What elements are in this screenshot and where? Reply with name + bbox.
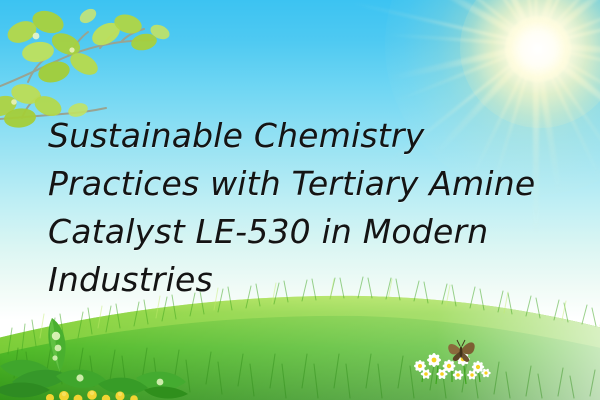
sun-ray [396, 44, 536, 102]
page-title: Sustainable Chemistry Practices with Ter… [48, 112, 554, 304]
sun-ray [536, 1, 600, 46]
daisy-cluster-with-butterfly [400, 326, 520, 386]
sun-ray [533, 0, 582, 46]
sun-ray [536, 42, 600, 58]
sun-ray [534, 0, 600, 47]
sun-ray [535, 0, 600, 46]
banner-title-block: Sustainable Chemistry Practices with Ter… [48, 112, 554, 304]
sun-ray [535, 0, 538, 45]
sun-ray [536, 44, 600, 80]
sun-ray [535, 0, 600, 46]
sun-ray [451, 0, 539, 46]
sun-ray [450, 0, 538, 46]
sun-ray [389, 42, 537, 81]
sun-ray [418, 0, 537, 46]
sun-ray [511, 0, 537, 45]
sun-icon [505, 16, 571, 82]
foreground-foliage [0, 306, 194, 400]
banner-image: Sustainable Chemistry Practices with Ter… [0, 0, 600, 400]
sun-ray [404, 0, 537, 48]
sun-ray [386, 33, 536, 46]
sun-ray [350, 1, 536, 46]
sun-ray [535, 0, 600, 46]
sun-inner-glow [460, 0, 600, 128]
sun-ray [535, 44, 600, 121]
